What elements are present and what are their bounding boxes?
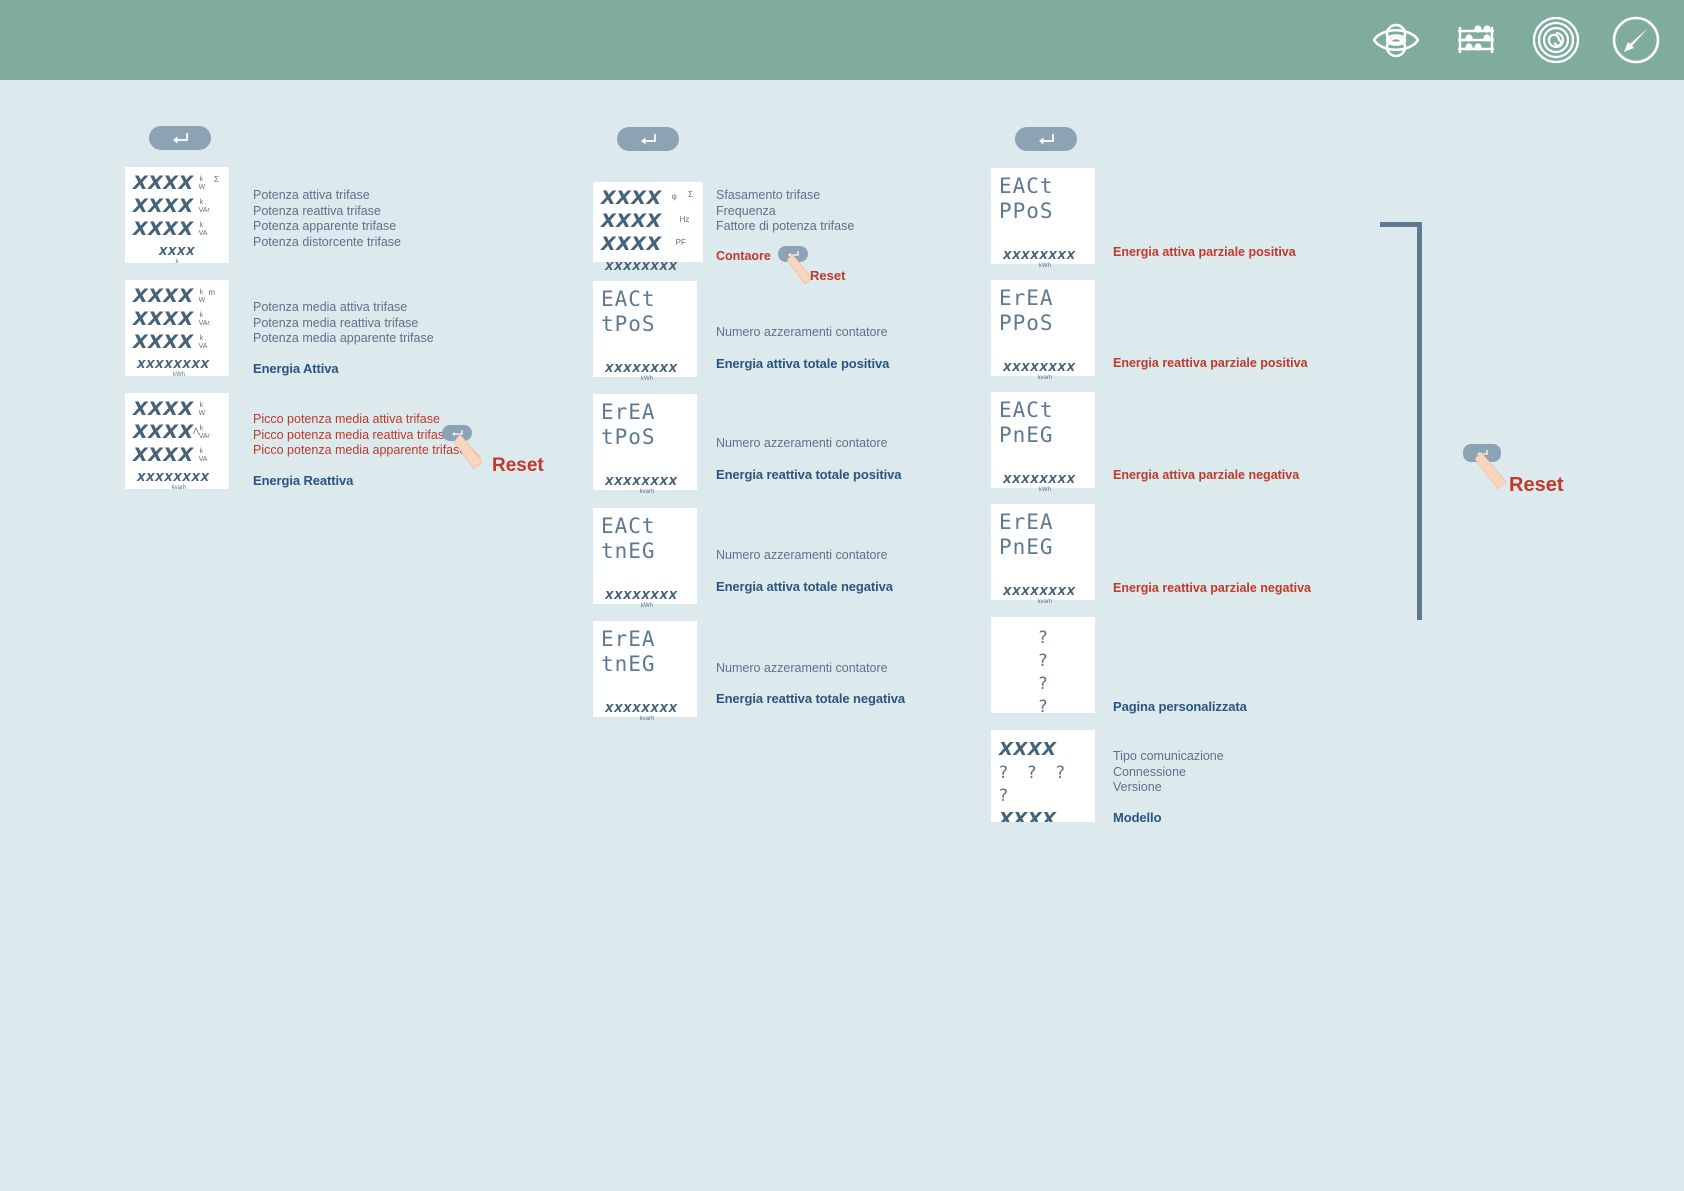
lcd-footer: XXXXXXXX kWh — [133, 355, 221, 379]
lcd-footer-value: XXXXXXXX — [1003, 249, 1076, 262]
unit-suffix: W — [199, 297, 206, 304]
eye-vision-icon[interactable] — [1370, 14, 1422, 66]
model-info-panel: XXXX ? ? ? ? XXXX nEMo 72LE — [991, 730, 1095, 822]
desc-line: Sfasamento trifase — [716, 188, 854, 204]
lcd-seg-line2: PnEG — [999, 423, 1087, 448]
lcd-unit: k VAr — [199, 312, 210, 327]
lcd-row: XXXX k VAr — [133, 309, 221, 332]
lcd-seg-line1: EACt — [999, 398, 1087, 423]
lcd-footer: XXXXXXXX kvarh — [133, 468, 221, 492]
unit-suffix: VA — [199, 343, 208, 350]
desc-line: Potenza media apparente trifase — [253, 331, 434, 347]
lambda-flag-icon: Λ — [193, 426, 199, 436]
lcd-footer-unit: kvarh — [137, 485, 221, 492]
sigma-flag-icon: Σ — [688, 190, 693, 199]
lcd-seg-line1: EACt — [601, 287, 689, 312]
lcd-footer: XXXXXXXX kvarh — [601, 472, 689, 496]
lcd-value: XXXX — [133, 309, 194, 329]
lcd-row: XXXX k W — [133, 399, 221, 422]
eact-pneg-panel: EACt PnEG XXXXXXXX kWh — [991, 392, 1095, 488]
lcd-row: XXXX k VAr Λ — [133, 422, 221, 445]
label-energia-reattiva-totale-positiva: Energia reattiva totale positiva — [716, 467, 901, 482]
lcd-unit: k VAr — [199, 425, 210, 440]
lcd-footer-value: XXXX — [159, 245, 195, 258]
unit-prefix: k — [199, 176, 206, 183]
phase-frequency-description-block: Sfasamento trifase Frequenza Fattore di … — [716, 188, 854, 235]
label-energia-attiva-totale-positiva: Energia attiva totale positiva — [716, 356, 889, 371]
custom-row: ? — [999, 650, 1087, 673]
lcd-footer-unit: kWh — [137, 372, 221, 379]
desc-line: Potenza media reattiva trifase — [253, 316, 434, 332]
spiral-target-icon[interactable] — [1530, 14, 1582, 66]
model-row-1: XXXX — [999, 738, 1087, 762]
unit-prefix: k — [199, 289, 206, 296]
unit-prefix: k — [199, 312, 210, 319]
desc-line: Picco potenza media attiva trifase — [253, 412, 466, 428]
lcd-value: XXXX — [133, 173, 194, 193]
back-arrow-icon — [638, 132, 658, 146]
lcd-seg-line1: ErEA — [999, 286, 1087, 311]
label-pagina-personalizzata: Pagina personalizzata — [1113, 699, 1247, 714]
unit-prefix: k — [199, 199, 210, 206]
back-button-column1[interactable] — [149, 126, 211, 150]
desc-line: Picco potenza media apparente trifase — [253, 443, 466, 459]
lcd-value: XXXX — [601, 188, 662, 208]
lcd-footer-unit: kWh — [605, 603, 689, 610]
erea-pneg-panel: ErEA PnEG XXXXXXXX kvarh — [991, 504, 1095, 600]
lcd-footer-unit: kvarh — [1003, 375, 1087, 382]
label-energia-reattiva-totale-negativa: Energia reattiva totale negativa — [716, 691, 905, 706]
custom-row: ? — [999, 673, 1087, 696]
unit-prefix: k — [199, 335, 208, 342]
unit-prefix: k — [199, 222, 208, 229]
lcd-footer-value: XXXXXXXX — [1003, 361, 1076, 374]
desc-line: Versione — [1113, 780, 1224, 796]
lcd-seg-line2: tPoS — [601, 425, 689, 450]
lcd-seg-line1: EACt — [601, 514, 689, 539]
eact-tpos-panel: EACt tPoS XXXXXXXX kWh — [593, 281, 697, 377]
counter-reset-text-3: Numero azzeramenti contatore — [716, 548, 888, 564]
counter-reset-text-1: Numero azzeramenti contatore — [716, 325, 888, 341]
lcd-value: XXXX — [133, 196, 194, 216]
lcd-seg-line2: PPoS — [999, 199, 1087, 224]
label-energia-attiva-parziale-positiva: Energia attiva parziale positiva — [1113, 245, 1296, 259]
lcd-seg-line2: PnEG — [999, 535, 1087, 560]
power-description-block: Potenza attiva trifase Potenza reattiva … — [253, 188, 401, 250]
lcd-value: XXXX — [133, 286, 194, 306]
label-energia-attiva-totale-negativa: Energia attiva totale negativa — [716, 579, 893, 594]
erea-ppos-panel: ErEA PPoS XXXXXXXX kvarh — [991, 280, 1095, 376]
lcd-footer-value: XXXXXXXX — [605, 260, 678, 273]
label-energia-attiva: Energia Attiva — [253, 361, 339, 376]
lcd-unit: k W — [199, 176, 206, 191]
lcd-seg-line2: tnEG — [601, 539, 689, 564]
desc-line: Frequenza — [716, 204, 854, 220]
lcd-seg-line1: EACt — [999, 174, 1087, 199]
lcd-footer-unit: kvarh — [1003, 599, 1087, 606]
custom-page-panel: ? ? ? ? — [991, 617, 1095, 713]
desc-line: Potenza distorcente trifase — [253, 235, 401, 251]
lcd-footer: XXXXXXXX kvarh — [999, 582, 1087, 606]
counter-reset-text-4: Numero azzeramenti contatore — [716, 661, 888, 677]
lcd-unit: k VA — [199, 448, 208, 463]
lcd-value: XXXX — [601, 211, 662, 231]
lcd-footer: XXXXXXXX kWh — [601, 359, 689, 383]
lcd-footer-unit: kWh — [1003, 487, 1087, 494]
label-contaore: Contaore — [716, 249, 771, 263]
back-button-column3[interactable] — [1015, 127, 1077, 151]
desc-line: Connessione — [1113, 765, 1224, 781]
lcd-row: XXXX k VAr — [133, 196, 221, 219]
lcd-footer-value: XXXXXXXX — [605, 589, 678, 602]
label-energia-reattiva-parziale-negativa: Energia reattiva parziale negativa — [1113, 581, 1311, 595]
lcd-footer-value: XXXXXXXX — [1003, 473, 1076, 486]
desc-line: Potenza media attiva trifase — [253, 300, 434, 316]
unit-prefix: k — [199, 448, 208, 455]
desc-line: Potenza reattiva trifase — [253, 204, 401, 220]
lcd-seg-line2: tPoS — [601, 312, 689, 337]
lcd-value: XXXX — [601, 234, 662, 254]
erea-tpos-panel: ErEA tPoS XXXXXXXX kvarh — [593, 394, 697, 490]
lcd-seg-line1: ErEA — [601, 400, 689, 425]
unit-suffix: W — [199, 410, 206, 417]
lcd-unit: PF — [676, 239, 686, 247]
lcd-value: XXXX — [133, 422, 194, 442]
lcd-footer-unit: kWh — [1003, 263, 1087, 270]
lcd-footer-value: XXXXXXXX — [137, 471, 210, 484]
label-energia-attiva-parziale-negativa: Energia attiva parziale negativa — [1113, 468, 1299, 482]
average-power-description-block: Potenza media attiva trifase Potenza med… — [253, 300, 434, 347]
lcd-unit: Hz — [680, 216, 690, 224]
lcd-row: XXXX k W Σ — [133, 173, 221, 196]
lcd-footer-value: XXXXXXXX — [137, 358, 210, 371]
lcd-footer: XXXXXXXX kWh — [999, 246, 1087, 270]
lcd-unit: φ — [672, 193, 677, 201]
app-header — [0, 0, 1684, 80]
desc-line: Potenza apparente trifase — [253, 219, 401, 235]
lcd-value: XXXX — [133, 445, 194, 465]
header-icon-group — [1370, 0, 1662, 80]
reset-label-column2: Reset — [810, 268, 845, 283]
desc-line: Tipo comunicazione — [1113, 749, 1224, 765]
lcd-footer: XXXX k — [133, 242, 221, 266]
lcd-footer: XXXXXXXX kvarh — [999, 358, 1087, 382]
lcd-unit: k VAr — [199, 199, 210, 214]
lcd-value: XXXX — [133, 399, 194, 419]
desc-line: Picco potenza media reattiva trifase — [253, 428, 466, 444]
back-arrow-icon — [170, 131, 190, 145]
lcd-footer-unit: kvarh — [605, 489, 689, 496]
lcd-footer-value: XXXXXXXX — [605, 702, 678, 715]
lcd-footer: XXXXXXXX — [601, 257, 695, 275]
label-energia-reattiva-parziale-positiva: Energia reattiva parziale positiva — [1113, 356, 1308, 370]
peak-power-description-block: Picco potenza media attiva trifase Picco… — [253, 412, 466, 459]
model-description-block: Tipo comunicazione Connessione Versione — [1113, 749, 1224, 796]
unit-suffix: VAr — [199, 433, 210, 440]
page-root: XXXX k W Σ XXXX k VAr XXXX k VA — [0, 0, 1684, 1191]
lcd-unit: k W — [199, 289, 206, 304]
unit-suffix: VAr — [199, 320, 210, 327]
lcd-row: XXXX PF — [601, 234, 695, 257]
eact-ppos-panel: EACt PPoS XXXXXXXX kWh — [991, 168, 1095, 264]
unit-suffix: W — [199, 184, 206, 191]
lcd-seg-line1: ErEA — [999, 510, 1087, 535]
unit-prefix: k — [199, 425, 210, 432]
unit-suffix: VA — [199, 456, 208, 463]
unit-suffix: VA — [199, 230, 208, 237]
reset-label-column1: Reset — [492, 455, 544, 477]
compass-navigation-icon[interactable] — [1610, 14, 1662, 66]
lcd-unit: k VA — [199, 335, 208, 350]
lcd-footer-value: XXXXXXXX — [605, 362, 678, 375]
desc-line: Potenza attiva trifase — [253, 188, 401, 204]
peak-average-power-panel: XXXX k W XXXX k VAr Λ XXXX k VA — [125, 393, 229, 489]
phase-frequency-panel: XXXX φ Σ XXXX Hz XXXX PF XXXXXXXX — [593, 182, 703, 262]
unit-suffix: VAr — [199, 207, 210, 214]
lcd-footer-value: XXXXXXXX — [1003, 585, 1076, 598]
lcd-row: XXXX k VA — [133, 219, 221, 242]
lcd-footer-unit: k — [133, 259, 221, 266]
sigma-flag-icon: Σ — [214, 175, 219, 184]
reset-label-partial: Reset — [1509, 474, 1563, 497]
counter-reset-text-2: Numero azzeramenti contatore — [716, 436, 888, 452]
partial-energy-bracket — [1380, 222, 1422, 620]
lcd-unit: k W — [199, 402, 206, 417]
lcd-seg-line1: ErEA — [601, 627, 689, 652]
custom-row: ? — [999, 696, 1087, 719]
lcd-footer-unit: kvarh — [605, 716, 689, 723]
m-flag-icon: m — [208, 288, 215, 297]
abacus-counter-icon[interactable] — [1450, 14, 1502, 66]
lcd-footer-value: XXXXXXXX — [605, 475, 678, 488]
custom-row: ? — [999, 627, 1087, 650]
model-row-2: ? ? ? ? — [999, 762, 1087, 808]
lcd-row: XXXX φ Σ — [601, 188, 695, 211]
unit-prefix: k — [199, 402, 206, 409]
back-button-column2[interactable] — [617, 127, 679, 151]
lcd-row: XXXX k VA — [133, 332, 221, 355]
lcd-footer: XXXXXXXX kvarh — [601, 699, 689, 723]
lcd-seg-line2: tnEG — [601, 652, 689, 677]
lcd-unit: k VA — [199, 222, 208, 237]
lcd-footer-unit: kWh — [605, 376, 689, 383]
lcd-footer: XXXXXXXX kWh — [601, 586, 689, 610]
eact-tneg-panel: EACt tnEG XXXXXXXX kWh — [593, 508, 697, 604]
back-arrow-icon — [1036, 132, 1056, 146]
lcd-value: XXXX — [133, 332, 194, 352]
desc-line: Fattore di potenza trifase — [716, 219, 854, 235]
three-phase-power-panel: XXXX k W Σ XXXX k VAr XXXX k VA — [125, 167, 229, 263]
lcd-row: XXXX Hz — [601, 211, 695, 234]
lcd-value: XXXX — [133, 219, 194, 239]
average-power-panel: XXXX k W m XXXX k VAr XXXX k VA — [125, 280, 229, 376]
model-row-3: XXXX — [999, 808, 1087, 822]
lcd-row: XXXX k W m — [133, 286, 221, 309]
label-modello: Modello — [1113, 810, 1161, 825]
lcd-footer: XXXXXXXX kWh — [999, 470, 1087, 494]
erea-tneg-panel: ErEA tnEG XXXXXXXX kvarh — [593, 621, 697, 717]
lcd-seg-line2: PPoS — [999, 311, 1087, 336]
label-energia-reattiva: Energia Reattiva — [253, 473, 353, 488]
lcd-row: XXXX k VA — [133, 445, 221, 468]
